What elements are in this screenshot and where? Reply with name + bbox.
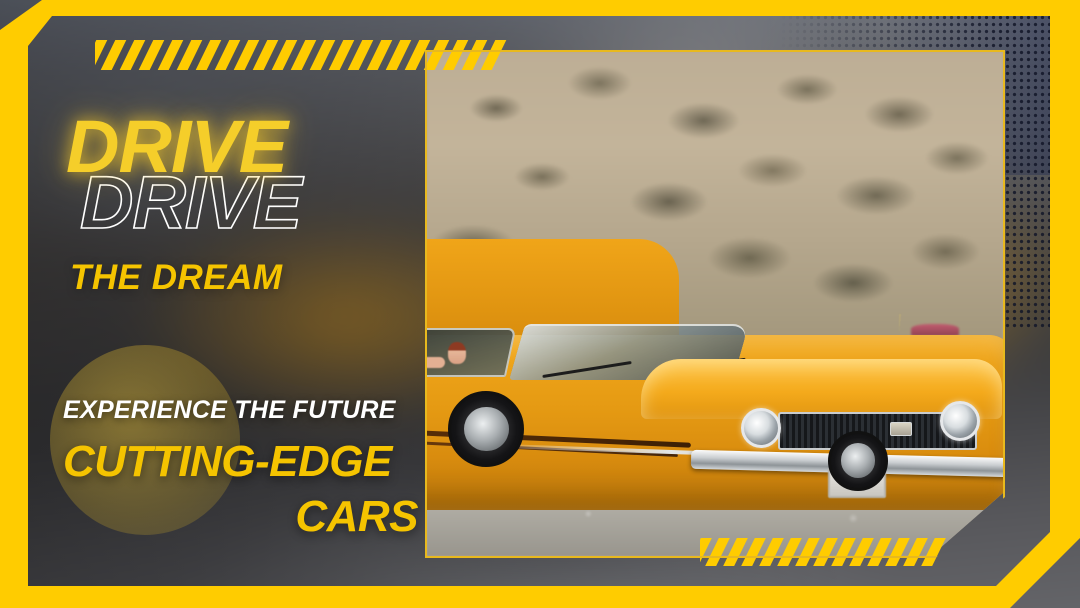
wheel-rim bbox=[464, 407, 509, 452]
promo-kicker: EXPERIENCE THE FUTURE bbox=[63, 396, 396, 425]
headlight-right bbox=[940, 401, 980, 441]
poster-canvas: DRIVE DRIVE THE DREAM EXPERIENCE THE FUT… bbox=[0, 0, 1080, 608]
side-window bbox=[427, 328, 516, 377]
rear-wheel bbox=[828, 431, 888, 491]
promo-line-2: CARS bbox=[63, 492, 418, 542]
photo-scene-classic-car bbox=[427, 52, 1003, 556]
driver-arm bbox=[427, 357, 445, 368]
classic-car bbox=[427, 284, 1003, 556]
headline-group: DRIVE DRIVE bbox=[66, 112, 416, 232]
photo-frame bbox=[425, 50, 1005, 558]
promo-line-1: CUTTING-EDGE bbox=[63, 437, 392, 487]
driver-head bbox=[448, 342, 466, 364]
headlight-left bbox=[741, 408, 781, 448]
front-wheel bbox=[448, 391, 524, 467]
headline-fill: DRIVE bbox=[66, 112, 287, 182]
subheadline: THE DREAM bbox=[70, 258, 283, 298]
turn-signal bbox=[890, 422, 912, 436]
photo-clip bbox=[427, 52, 1003, 556]
wheel-rim bbox=[841, 443, 876, 478]
